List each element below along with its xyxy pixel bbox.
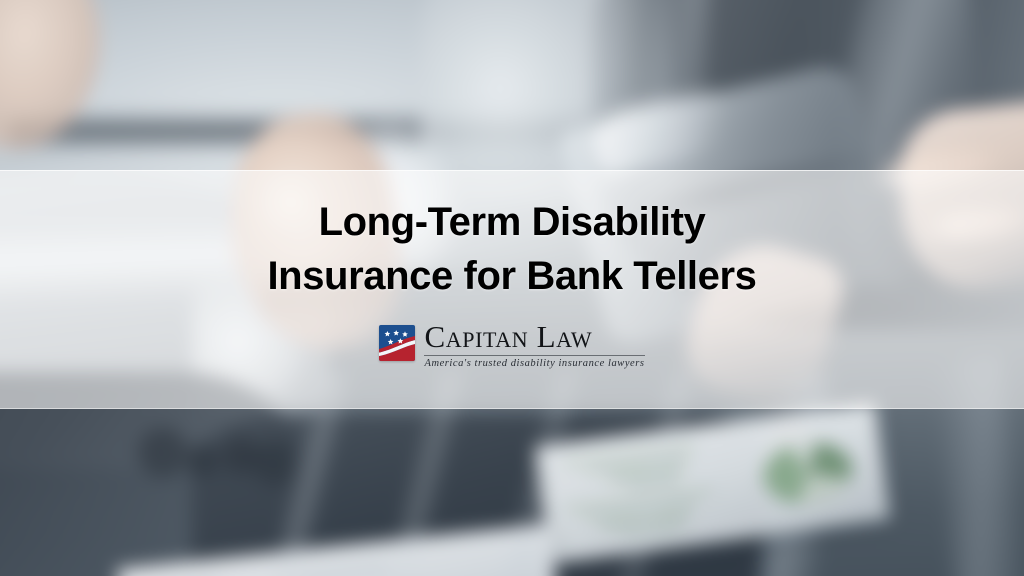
page-title-line-2: Insurance for Bank Tellers (267, 249, 756, 303)
band-bottom-edge (0, 408, 1024, 409)
logo-divider (424, 355, 644, 356)
overlay-band: Long-Term Disability Insurance for Bank … (0, 170, 1024, 409)
logo-wordmark: Capitan Law (424, 321, 644, 352)
logo-text-block: Capitan Law America's trusted disability… (424, 321, 644, 369)
american-flag-shield-emblem (379, 325, 415, 361)
logo-tagline: America's trusted disability insurance l… (424, 358, 644, 369)
page-title: Long-Term Disability Insurance for Bank … (267, 195, 756, 304)
capitan-law-logo[interactable]: Capitan Law America's trusted disability… (379, 321, 644, 369)
hero-banner: Long-Term Disability Insurance for Bank … (0, 0, 1024, 576)
page-title-line-1: Long-Term Disability (319, 200, 706, 244)
band-top-edge (0, 170, 1024, 171)
